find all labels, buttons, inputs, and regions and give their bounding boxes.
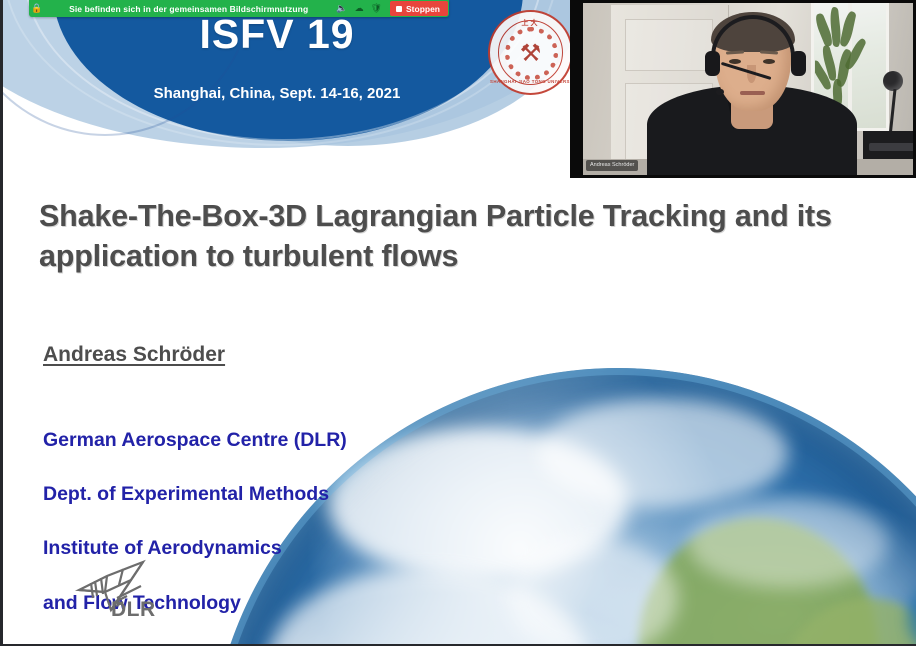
dlr-logo-text: DLR bbox=[111, 598, 156, 622]
stop-share-label: Stoppen bbox=[406, 4, 440, 14]
webcam-video-feed[interactable]: Andreas Schröder bbox=[583, 3, 913, 175]
shield-icon[interactable]: 🛡 bbox=[371, 4, 382, 13]
share-toolbar-icons: 🔈 ☁ 🛡 bbox=[332, 4, 390, 13]
cloud-icon[interactable]: ☁ bbox=[355, 4, 364, 13]
door-panel bbox=[625, 19, 713, 71]
webcam-panel[interactable]: Andreas Schröder bbox=[570, 0, 916, 178]
affiliation-line: German Aerospace Centre (DLR) bbox=[43, 427, 347, 454]
dlr-logo: DLR bbox=[71, 556, 181, 626]
stop-share-button[interactable]: Stoppen bbox=[390, 1, 448, 16]
headset-mic-tip bbox=[716, 89, 724, 95]
seal-arc-text: SHANGHAI JIAO TONG UNIVERSITY bbox=[490, 79, 571, 84]
headset-earcup-left bbox=[705, 51, 720, 76]
plant-leaf bbox=[839, 10, 856, 47]
participant-name-label: Andreas Schröder bbox=[586, 160, 638, 171]
stop-square-icon bbox=[396, 6, 402, 12]
screen-share-status-text: Sie befinden sich in der gemeinsamen Bil… bbox=[45, 4, 332, 14]
conference-title: ISFV 19 bbox=[107, 14, 447, 55]
presenter-name: Andreas Schröder bbox=[43, 343, 225, 367]
conference-location: Shanghai, China, Sept. 14-16, 2021 bbox=[67, 85, 487, 102]
slide-title: Shake-The-Box-3D Lagrangian Particle Tra… bbox=[39, 196, 889, 277]
desk-equipment-bar bbox=[869, 143, 913, 151]
lock-icon: 🔒 bbox=[29, 3, 45, 14]
affiliation-line: Dept. of Experimental Methods bbox=[43, 481, 347, 508]
speaker-icon[interactable]: 🔈 bbox=[336, 4, 347, 13]
person-mouth bbox=[740, 91, 765, 95]
screen-share-toolbar[interactable]: 🔒 Sie befinden sich in der gemeinsamen B… bbox=[29, 0, 449, 17]
headset-earcup-right bbox=[791, 51, 806, 76]
screen-share-window: ISFV 19 Shanghai, China, Sept. 14-16, 20… bbox=[0, 0, 916, 646]
shanghai-jiao-tong-university-seal-icon: 上大 ⚒ SHANGHAI JIAO TONG UNIVERSITY bbox=[488, 10, 573, 95]
